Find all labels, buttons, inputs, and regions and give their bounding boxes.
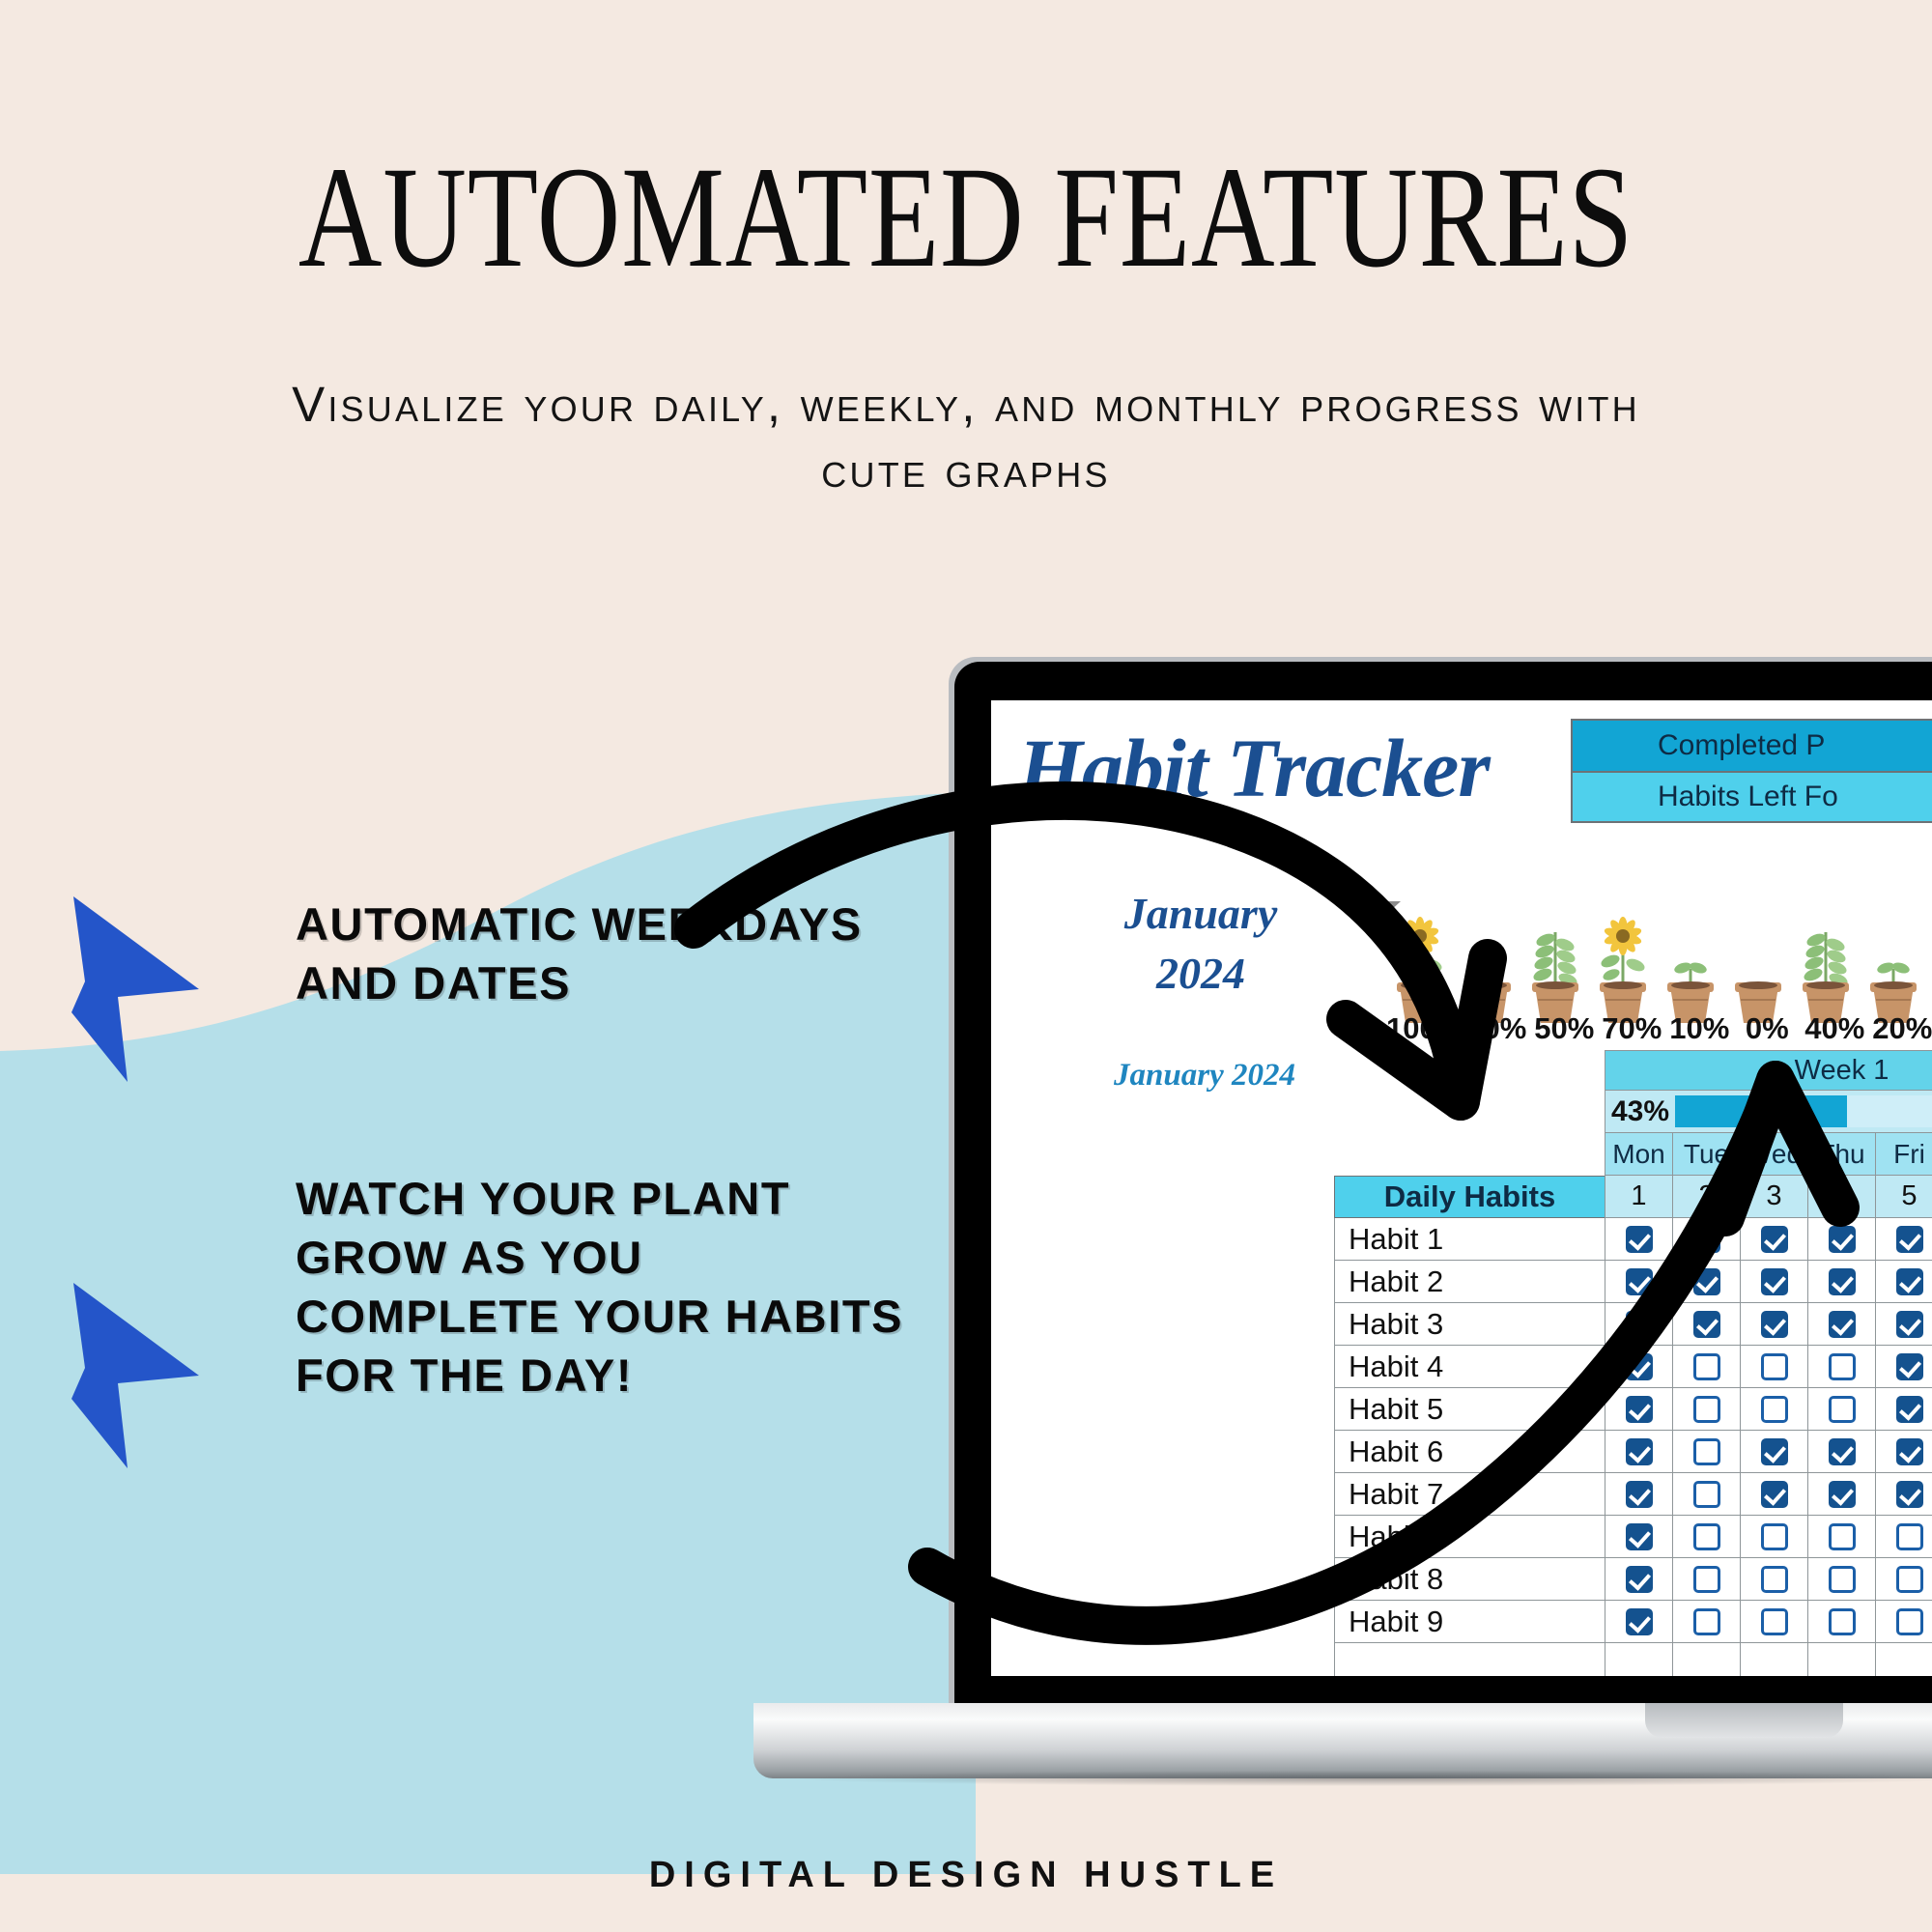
week-progress-bar	[1675, 1095, 1932, 1127]
daily-habits-header: Daily Habits	[1334, 1176, 1605, 1218]
habit-check-cell[interactable]	[1875, 1601, 1932, 1643]
table-row: Habit 3	[1334, 1303, 1932, 1346]
habit-check-cell[interactable]	[1740, 1303, 1807, 1346]
weekday-header-cell: Tue	[1672, 1133, 1740, 1176]
feature-bullet-weekdays-text: Automatic weekdays and dates	[296, 895, 885, 1012]
plant-percent-label: 40%	[1801, 1011, 1868, 1050]
habit-check-cell[interactable]	[1605, 1388, 1672, 1431]
checkbox-icon[interactable]	[1829, 1481, 1856, 1508]
checkbox-icon[interactable]	[1626, 1438, 1653, 1465]
empty-cell[interactable]	[1334, 1643, 1605, 1676]
table-row: Habit 6	[1334, 1431, 1932, 1473]
checkbox-icon[interactable]	[1896, 1396, 1923, 1423]
empty-cell[interactable]	[1875, 1643, 1932, 1676]
habit-check-cell[interactable]	[1740, 1431, 1807, 1473]
habit-check-cell[interactable]	[1605, 1261, 1672, 1303]
plant-percent-label: 10%	[1665, 1011, 1733, 1050]
checkbox-icon[interactable]	[1626, 1268, 1653, 1295]
checkbox-icon[interactable]	[1761, 1268, 1788, 1295]
habit-name-cell[interactable]: Habit 7	[1334, 1473, 1605, 1516]
checkbox-icon[interactable]	[1761, 1353, 1788, 1380]
habit-check-cell[interactable]	[1740, 1473, 1807, 1516]
table-row: Habit 5	[1334, 1388, 1932, 1431]
checkbox-icon[interactable]	[1829, 1268, 1856, 1295]
checkbox-icon[interactable]	[1829, 1608, 1856, 1635]
checkbox-icon[interactable]	[1693, 1608, 1720, 1635]
habit-check-cell[interactable]	[1605, 1601, 1672, 1643]
legend-panel: Completed P Habits Left Fo	[1571, 719, 1932, 823]
checkbox-icon[interactable]	[1829, 1353, 1856, 1380]
page-subtitle: Visualize your daily, weekly, and monthl…	[232, 372, 1700, 503]
laptop-screen: Habit Tracker January 2024 January 2024 …	[991, 700, 1932, 1676]
habit-check-cell[interactable]	[1605, 1218, 1672, 1261]
habit-check-cell[interactable]	[1672, 1601, 1740, 1643]
checkbox-icon[interactable]	[1693, 1396, 1720, 1423]
checkbox-icon[interactable]	[1761, 1226, 1788, 1253]
habit-name-cell[interactable]: Habit 4	[1334, 1346, 1605, 1388]
footer-brand: DIGITAL DESIGN HUSTLE	[0, 1855, 1932, 1896]
checkbox-icon[interactable]	[1896, 1353, 1923, 1380]
habit-check-cell[interactable]	[1672, 1388, 1740, 1431]
laptop-shadow	[800, 1771, 1932, 1786]
checkbox-icon[interactable]	[1693, 1353, 1720, 1380]
habit-name-cell[interactable]: Habit 2	[1334, 1261, 1605, 1303]
habit-check-cell[interactable]	[1740, 1346, 1807, 1388]
habit-name-cell[interactable]: Habit 8	[1334, 1558, 1605, 1601]
checkbox-icon[interactable]	[1626, 1396, 1653, 1423]
checkbox-icon[interactable]	[1761, 1523, 1788, 1550]
checkbox-icon[interactable]	[1896, 1523, 1923, 1550]
date-header-cell: 2	[1672, 1176, 1740, 1218]
habit-check-cell[interactable]	[1807, 1473, 1875, 1516]
habit-check-cell[interactable]	[1672, 1473, 1740, 1516]
habit-rows: Habit 1Habit 2Habit 3Habit 4Habit 5Habit…	[1334, 1218, 1932, 1643]
habit-check-cell[interactable]	[1740, 1261, 1807, 1303]
table-row: Habit 4	[1334, 1346, 1932, 1388]
habit-check-cell[interactable]	[1672, 1261, 1740, 1303]
checkbox-icon[interactable]	[1829, 1226, 1856, 1253]
month-name: January	[1124, 889, 1277, 938]
checkbox-icon[interactable]	[1896, 1311, 1923, 1338]
weekday-header-cell: Thu	[1807, 1133, 1875, 1176]
weekday-header-cell: Mon	[1605, 1133, 1672, 1176]
checkbox-icon[interactable]	[1693, 1523, 1720, 1550]
weekday-header-cell: Wed	[1740, 1133, 1807, 1176]
checkbox-icon[interactable]	[1761, 1566, 1788, 1593]
checkbox-icon[interactable]	[1693, 1311, 1720, 1338]
table-row: Habit 7	[1334, 1473, 1932, 1516]
checkbox-icon[interactable]	[1626, 1311, 1653, 1338]
checkbox-icon[interactable]	[1896, 1481, 1923, 1508]
empty-cell[interactable]	[1740, 1643, 1807, 1676]
habit-check-cell[interactable]	[1807, 1516, 1875, 1558]
checkbox-icon[interactable]	[1761, 1438, 1788, 1465]
legend-completed-row: Completed P	[1571, 719, 1932, 771]
table-row: Habit	[1334, 1516, 1932, 1558]
habit-check-cell[interactable]	[1807, 1431, 1875, 1473]
habit-check-cell[interactable]	[1875, 1218, 1932, 1261]
plant-percent-label: 100%	[1386, 1011, 1463, 1050]
week-progress-row: 43%9%	[1605, 1091, 1932, 1133]
plant-percent-label: 70%	[1598, 1011, 1665, 1050]
habit-check-cell[interactable]	[1672, 1516, 1740, 1558]
checkbox-icon[interactable]	[1829, 1566, 1856, 1593]
habit-name-cell[interactable]: Habit 9	[1334, 1601, 1605, 1643]
week-header-row: Week 1Week 2	[1605, 1050, 1932, 1091]
habit-check-cell[interactable]	[1672, 1218, 1740, 1261]
checkbox-icon[interactable]	[1626, 1523, 1653, 1550]
feature-bullet-weekdays: Automatic weekdays and dates	[68, 889, 885, 1106]
plant-growth-row	[1386, 898, 1932, 1029]
laptop-base-notch	[1645, 1703, 1843, 1738]
habit-check-cell[interactable]	[1807, 1218, 1875, 1261]
habit-check-cell[interactable]	[1740, 1388, 1807, 1431]
checkbox-icon[interactable]	[1693, 1226, 1720, 1253]
habit-check-cell[interactable]	[1740, 1601, 1807, 1643]
checkbox-icon[interactable]	[1693, 1566, 1720, 1593]
date-header-cell: 1	[1605, 1176, 1672, 1218]
checkbox-icon[interactable]	[1626, 1566, 1653, 1593]
habit-check-cell[interactable]	[1807, 1558, 1875, 1601]
habit-name-cell[interactable]: Habit 3	[1334, 1303, 1605, 1346]
habit-check-cell[interactable]	[1875, 1346, 1932, 1388]
checkbox-icon[interactable]	[1626, 1481, 1653, 1508]
habit-check-cell[interactable]	[1807, 1388, 1875, 1431]
habit-check-cell[interactable]	[1875, 1516, 1932, 1558]
habit-check-cell[interactable]	[1672, 1558, 1740, 1601]
plant-percent-label: 30%	[1463, 1011, 1530, 1050]
empty-table-row	[1334, 1643, 1932, 1676]
empty-cell[interactable]	[1807, 1643, 1875, 1676]
habit-name-cell[interactable]: Habit	[1334, 1516, 1605, 1558]
habit-check-cell[interactable]	[1672, 1346, 1740, 1388]
play-arrow-icon	[68, 889, 203, 1106]
checkbox-icon[interactable]	[1761, 1311, 1788, 1338]
week-progress-cell: 43%	[1605, 1091, 1932, 1133]
habit-tracker-spreadsheet: Habit Tracker January 2024 January 2024 …	[991, 700, 1932, 1676]
checkbox-icon[interactable]	[1829, 1438, 1856, 1465]
plant-percent-label: 20%	[1868, 1011, 1932, 1050]
empty-cell[interactable]	[1672, 1643, 1740, 1676]
laptop-mockup: Habit Tracker January 2024 January 2024 …	[954, 662, 1932, 1729]
habit-check-cell[interactable]	[1807, 1601, 1875, 1643]
checkbox-icon[interactable]	[1896, 1438, 1923, 1465]
poster-canvas: AUTOMATED FEATURES Visualize your daily,…	[0, 0, 1932, 1932]
habit-check-cell[interactable]	[1875, 1431, 1932, 1473]
legend-habits-left-row: Habits Left Fo	[1571, 771, 1932, 823]
habit-check-cell[interactable]	[1875, 1388, 1932, 1431]
habit-check-cell[interactable]	[1605, 1303, 1672, 1346]
checkbox-icon[interactable]	[1896, 1566, 1923, 1593]
checkbox-icon[interactable]	[1896, 1268, 1923, 1295]
date-header-cell: 5	[1875, 1176, 1932, 1218]
feature-bullet-plant-text: Watch your plant grow as you complete yo…	[296, 1169, 914, 1405]
month-year: 2024	[1156, 949, 1245, 998]
checkbox-icon[interactable]	[1896, 1608, 1923, 1635]
month-selector-value[interactable]: January 2024	[1080, 884, 1321, 1004]
checkbox-icon[interactable]	[1829, 1523, 1856, 1550]
checkbox-icon[interactable]	[1693, 1481, 1720, 1508]
habit-name-cell[interactable]: Habit 6	[1334, 1431, 1605, 1473]
page-title: AUTOMATED FEATURES	[193, 145, 1739, 290]
checkbox-icon[interactable]	[1761, 1608, 1788, 1635]
checkbox-icon[interactable]	[1626, 1226, 1653, 1253]
habit-check-cell[interactable]	[1807, 1261, 1875, 1303]
habit-check-cell[interactable]	[1605, 1516, 1672, 1558]
checkbox-icon[interactable]	[1829, 1396, 1856, 1423]
habit-check-cell[interactable]	[1605, 1346, 1672, 1388]
checkbox-icon[interactable]	[1829, 1311, 1856, 1338]
month-subtitle: January 2024	[1055, 1058, 1354, 1094]
daily-habits-header-row: Daily Habits123456789	[1334, 1176, 1932, 1218]
habit-check-cell[interactable]	[1807, 1346, 1875, 1388]
table-row: Habit 2	[1334, 1261, 1932, 1303]
weekday-header-row: MonTueWedThuFriSatSunMonTue	[1605, 1133, 1932, 1176]
habit-check-cell[interactable]	[1605, 1558, 1672, 1601]
plant-percent-label: 0%	[1733, 1011, 1801, 1050]
habit-check-cell[interactable]	[1672, 1303, 1740, 1346]
habit-grid: Week 1Week 2 43%9% MonTueWedThuFriSatSun…	[1334, 1050, 1932, 1676]
date-header-cell: 4	[1807, 1176, 1875, 1218]
checkbox-icon[interactable]	[1761, 1481, 1788, 1508]
date-header-cell: 3	[1740, 1176, 1807, 1218]
habit-check-cell[interactable]	[1807, 1303, 1875, 1346]
plant-percent-label: 50%	[1530, 1011, 1598, 1050]
habit-check-cell[interactable]	[1740, 1558, 1807, 1601]
feature-bullet-plant: Watch your plant grow as you complete yo…	[68, 1275, 914, 1492]
habit-check-cell[interactable]	[1605, 1473, 1672, 1516]
checkbox-icon[interactable]	[1626, 1608, 1653, 1635]
habit-check-cell[interactable]	[1672, 1431, 1740, 1473]
weekday-header-cell: Fri	[1875, 1133, 1932, 1176]
checkbox-icon[interactable]	[1761, 1396, 1788, 1423]
habit-check-cell[interactable]	[1875, 1261, 1932, 1303]
spreadsheet-title: Habit Tracker	[1018, 720, 1490, 816]
habit-name-cell[interactable]: Habit 1	[1334, 1218, 1605, 1261]
habit-check-cell[interactable]	[1740, 1516, 1807, 1558]
play-arrow-icon	[68, 1275, 203, 1492]
habit-check-cell[interactable]	[1740, 1218, 1807, 1261]
habit-name-cell[interactable]: Habit 5	[1334, 1388, 1605, 1431]
table-row: Habit 9	[1334, 1601, 1932, 1643]
plant-percent-row: 100%30%50%70%10%0%40%20%20%	[1386, 1011, 1932, 1050]
habit-check-cell[interactable]	[1605, 1431, 1672, 1473]
table-row: Habit 1	[1334, 1218, 1932, 1261]
empty-rows	[1334, 1643, 1932, 1676]
habit-check-cell[interactable]	[1875, 1558, 1932, 1601]
checkbox-icon[interactable]	[1693, 1438, 1720, 1465]
checkbox-icon[interactable]	[1896, 1226, 1923, 1253]
habit-check-cell[interactable]	[1875, 1473, 1932, 1516]
week-header-cell: Week 1	[1605, 1050, 1932, 1091]
empty-cell[interactable]	[1605, 1643, 1672, 1676]
week-progress-fill	[1675, 1095, 1847, 1127]
checkbox-icon[interactable]	[1626, 1353, 1653, 1380]
checkbox-icon[interactable]	[1693, 1268, 1720, 1295]
habit-check-cell[interactable]	[1875, 1303, 1932, 1346]
week-progress-label: 43%	[1605, 1091, 1675, 1132]
table-row: Habit 8	[1334, 1558, 1932, 1601]
